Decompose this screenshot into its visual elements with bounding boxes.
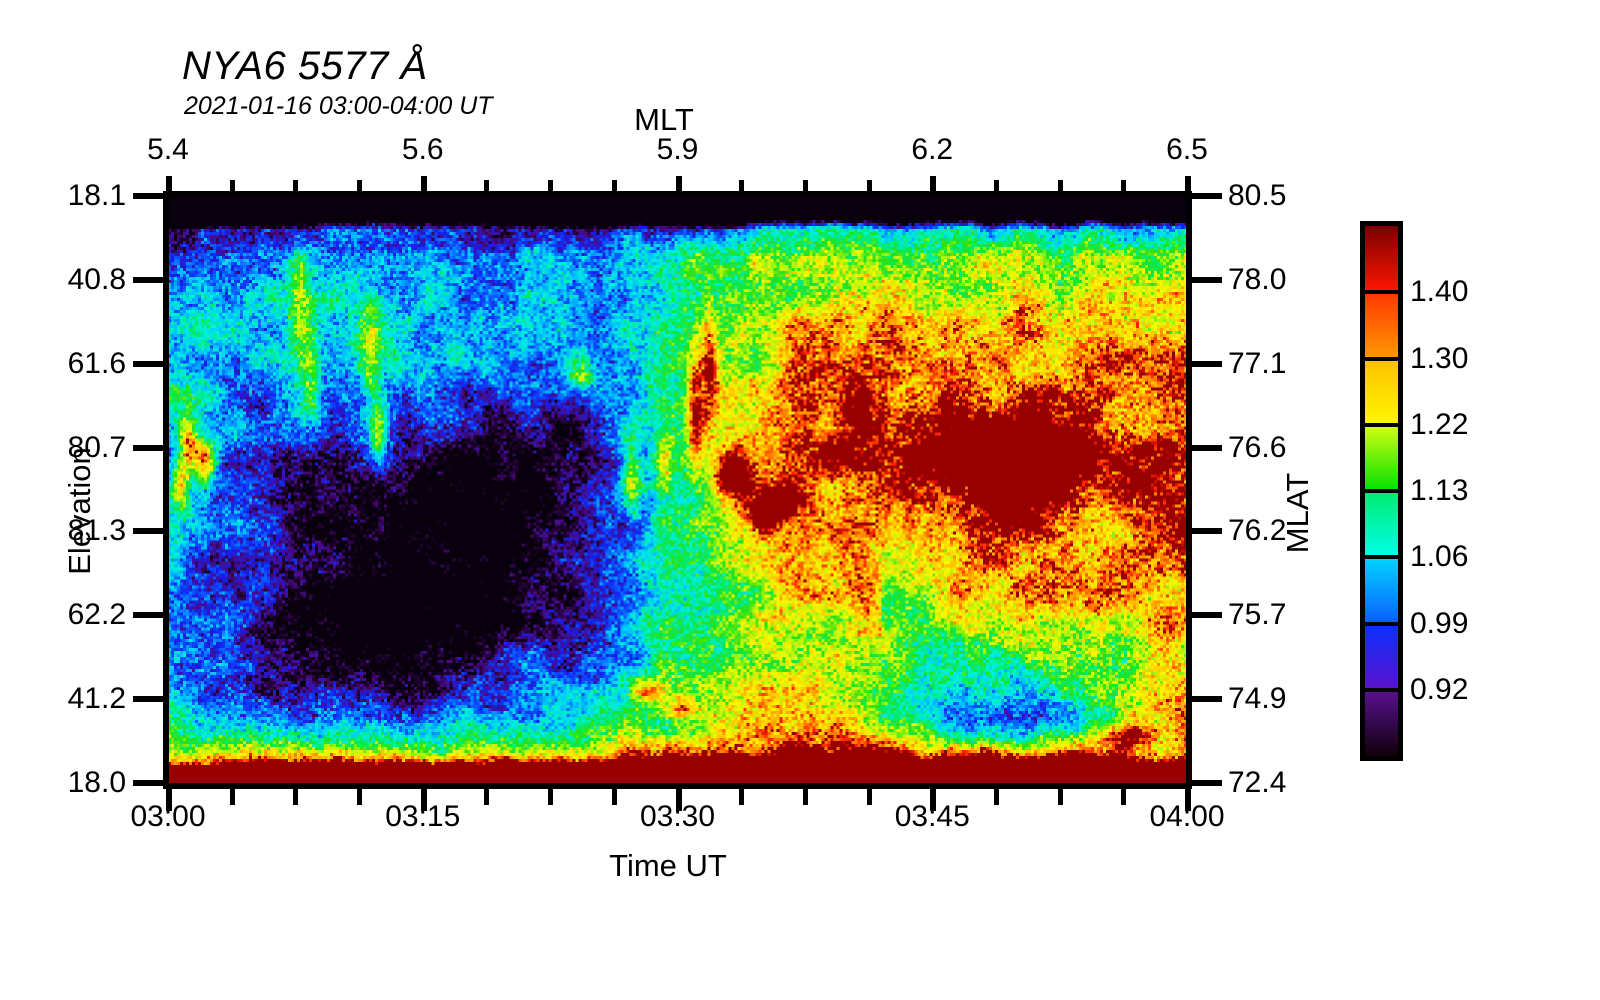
tick-label-time: 03:30 <box>640 800 715 834</box>
axis-minor-tick-top <box>293 180 298 196</box>
plot-title: NYA6 5577 Å <box>182 44 428 89</box>
colorbar-divider <box>1365 622 1398 626</box>
tick-label-mlt: 5.9 <box>657 133 699 167</box>
axis-minor-tick-bottom <box>994 789 999 805</box>
axis-major-tick-right <box>1190 612 1222 618</box>
tick-label-mlat: 77.1 <box>1228 347 1286 381</box>
axis-major-tick-right <box>1190 528 1222 534</box>
colorbar-segment <box>1365 557 1398 623</box>
axis-major-tick-right <box>1190 445 1222 451</box>
axis-major-tick-left <box>133 193 165 199</box>
axis-minor-tick-bottom <box>230 789 235 805</box>
axis-minor-tick-top <box>1058 180 1063 196</box>
axis-label-mlat: MLAT <box>1280 413 1316 613</box>
tick-label-elevation: 61.6 <box>0 347 126 381</box>
colorbar-segment <box>1365 425 1398 491</box>
axis-minor-tick-bottom <box>293 789 298 805</box>
tick-label-mlat: 74.9 <box>1228 682 1286 716</box>
tick-label-mlt: 6.2 <box>911 133 953 167</box>
axis-minor-tick-top <box>548 180 553 196</box>
tick-label-mlt: 5.6 <box>402 133 444 167</box>
colorbar-segment <box>1365 624 1398 690</box>
tick-label-mlat: 76.2 <box>1228 514 1286 548</box>
axis-minor-tick-top <box>230 180 235 196</box>
tick-label-mlt: 5.4 <box>147 133 189 167</box>
tick-label-time: 03:15 <box>385 800 460 834</box>
axis-major-tick-right <box>1190 696 1222 702</box>
axis-minor-tick-bottom <box>484 789 489 805</box>
axis-major-tick-left <box>133 780 165 786</box>
colorbar-divider <box>1365 489 1398 493</box>
tick-label-mlt: 6.5 <box>1166 133 1208 167</box>
axis-label-elevation: Elevation <box>62 411 98 611</box>
colorbar-tick-label: 0.99 <box>1410 607 1468 641</box>
tick-label-mlat: 80.5 <box>1228 179 1286 213</box>
tick-label-elevation: 18.1 <box>0 179 126 213</box>
axis-major-tick-left <box>133 445 165 451</box>
tick-label-mlat: 78.0 <box>1228 263 1286 297</box>
colorbar-divider <box>1365 423 1398 427</box>
tick-label-time: 03:45 <box>895 800 970 834</box>
tick-label-mlat: 72.4 <box>1228 766 1286 800</box>
tick-label-elevation: 40.8 <box>0 263 126 297</box>
axis-minor-tick-top <box>484 180 489 196</box>
axis-minor-tick-bottom <box>1058 789 1063 805</box>
keogram-image <box>168 196 1187 783</box>
tick-label-elevation: 18.0 <box>0 766 126 800</box>
colorbar-gradient <box>1365 226 1398 756</box>
axis-major-tick-left <box>133 528 165 534</box>
plot-subtitle: 2021-01-16 03:00-04:00 UT <box>184 92 493 121</box>
axis-minor-tick-bottom <box>803 789 808 805</box>
axis-minor-tick-bottom <box>548 789 553 805</box>
tick-label-mlat: 76.6 <box>1228 431 1286 465</box>
axis-minor-tick-top <box>612 180 617 196</box>
axis-minor-tick-bottom <box>1121 789 1126 805</box>
axis-major-tick-right <box>1190 277 1222 283</box>
axis-major-tick-top <box>930 176 936 196</box>
axis-minor-tick-bottom <box>612 789 617 805</box>
axis-major-tick-right <box>1190 780 1222 786</box>
axis-minor-tick-top <box>357 180 362 196</box>
tick-label-elevation: 41.2 <box>0 682 126 716</box>
axis-major-tick-left <box>133 612 165 618</box>
colorbar-segment <box>1365 690 1398 756</box>
colorbar-tick-label: 1.13 <box>1410 474 1468 508</box>
colorbar-tick-label: 1.30 <box>1410 342 1468 376</box>
colorbar-segment <box>1365 359 1398 425</box>
axis-label-time: Time UT <box>609 848 727 884</box>
axis-minor-tick-bottom <box>357 789 362 805</box>
axis-major-tick-left <box>133 361 165 367</box>
colorbar-divider <box>1365 688 1398 692</box>
axis-major-tick-top <box>676 176 682 196</box>
axis-minor-tick-top <box>867 180 872 196</box>
tick-label-time: 04:00 <box>1149 800 1224 834</box>
colorbar <box>1360 221 1403 761</box>
colorbar-segment <box>1365 292 1398 358</box>
axis-major-tick-right <box>1190 193 1222 199</box>
axis-major-tick-right <box>1190 361 1222 367</box>
axis-label-mlt: MLT <box>634 102 694 138</box>
axis-minor-tick-top <box>739 180 744 196</box>
axis-minor-tick-top <box>1121 180 1126 196</box>
axis-major-tick-left <box>133 277 165 283</box>
axis-minor-tick-top <box>994 180 999 196</box>
colorbar-segment <box>1365 491 1398 557</box>
axis-minor-tick-bottom <box>867 789 872 805</box>
colorbar-tick-label: 1.40 <box>1410 275 1468 309</box>
keogram-figure: NYA6 5577 Å 2021-01-16 03:00-04:00 UT 5.… <box>0 0 1600 1000</box>
axis-major-tick-left <box>133 696 165 702</box>
colorbar-divider <box>1365 555 1398 559</box>
colorbar-divider <box>1365 357 1398 361</box>
axis-major-tick-top <box>166 176 172 196</box>
tick-label-time: 03:00 <box>130 800 205 834</box>
colorbar-divider <box>1365 290 1398 294</box>
axis-minor-tick-top <box>803 180 808 196</box>
colorbar-segment <box>1365 226 1398 292</box>
axis-minor-tick-bottom <box>739 789 744 805</box>
colorbar-tick-label: 1.06 <box>1410 540 1468 574</box>
tick-label-mlat: 75.7 <box>1228 598 1286 632</box>
colorbar-tick-label: 0.92 <box>1410 673 1468 707</box>
axis-major-tick-top <box>421 176 427 196</box>
colorbar-tick-label: 1.22 <box>1410 408 1468 442</box>
